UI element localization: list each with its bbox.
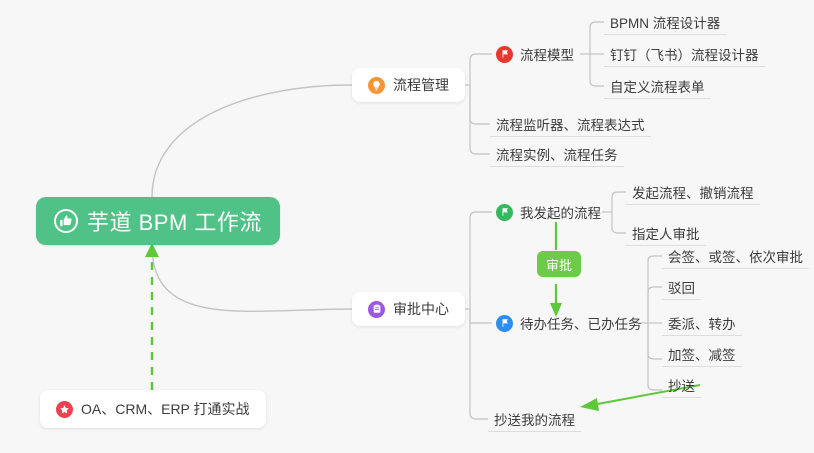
node-label: OA、CRM、ERP 打通实战 — [81, 399, 250, 419]
leaf-label: 自定义流程表单 — [610, 76, 705, 96]
node-label: 审批中心 — [393, 299, 449, 319]
leaf-listener-expression[interactable]: 流程监听器、流程表达式 — [490, 111, 651, 137]
node-label: 流程管理 — [393, 75, 449, 95]
mindmap-canvas: 芋道 BPM 工作流 流程管理 流程模型 BPMN 流程设计器 钉钉（飞书）流程… — [0, 0, 814, 453]
star-icon — [56, 401, 73, 418]
leaf-reject[interactable]: 驳回 — [662, 274, 701, 300]
root-label: 芋道 BPM 工作流 — [87, 205, 262, 237]
leaf-label: 发起流程、撤销流程 — [632, 182, 754, 202]
leaf-custom-process-form[interactable]: 自定义流程表单 — [604, 73, 711, 99]
flag-icon — [496, 315, 513, 332]
leaf-instance-task[interactable]: 流程实例、流程任务 — [490, 141, 624, 167]
node-label: 待办任务、已办任务 — [520, 313, 642, 333]
node-label: 流程模型 — [520, 44, 574, 64]
leaf-cc[interactable]: 抄送 — [662, 372, 701, 398]
leaf-label: 驳回 — [668, 277, 695, 297]
tag-label: 审批 — [546, 255, 572, 274]
node-approval-center[interactable]: 审批中心 — [352, 292, 465, 326]
clipboard-icon — [368, 301, 385, 318]
leaf-cc-to-me-process[interactable]: 抄送我的流程 — [488, 406, 581, 432]
leaf-delegate-transfer[interactable]: 委派、转办 — [662, 310, 742, 336]
lightbulb-icon — [368, 77, 385, 94]
leaf-label: 加签、减签 — [668, 344, 736, 364]
leaf-label: 抄送 — [668, 375, 695, 395]
node-process-model[interactable]: 流程模型 — [492, 41, 578, 67]
leaf-add-remove-sign[interactable]: 加签、减签 — [662, 341, 742, 367]
leaf-bpmn-designer[interactable]: BPMN 流程设计器 — [604, 9, 726, 35]
leaf-start-cancel-process[interactable]: 发起流程、撤销流程 — [626, 179, 760, 205]
leaf-countersign[interactable]: 会签、或签、依次审批 — [662, 243, 809, 269]
node-process-management[interactable]: 流程管理 — [352, 68, 465, 102]
leaf-label: 委派、转办 — [668, 313, 736, 333]
flag-icon — [496, 204, 513, 221]
node-integration-practice[interactable]: OA、CRM、ERP 打通实战 — [40, 390, 266, 428]
leaf-label: BPMN 流程设计器 — [610, 12, 720, 32]
leaf-label: 抄送我的流程 — [494, 409, 575, 429]
tag-approval[interactable]: 审批 — [537, 251, 581, 277]
root-node[interactable]: 芋道 BPM 工作流 — [36, 197, 280, 245]
thumbs-up-icon — [54, 209, 78, 233]
leaf-label: 流程实例、流程任务 — [496, 144, 618, 164]
node-todo-done-tasks[interactable]: 待办任务、已办任务 — [492, 310, 646, 336]
leaf-label: 流程监听器、流程表达式 — [496, 114, 645, 134]
flag-icon — [496, 46, 513, 63]
node-label: 我发起的流程 — [520, 202, 601, 222]
leaf-label: 钉钉（飞书）流程设计器 — [610, 44, 759, 64]
leaf-label: 指定人审批 — [632, 223, 700, 243]
leaf-label: 会签、或签、依次审批 — [668, 246, 803, 266]
node-my-started-process[interactable]: 我发起的流程 — [492, 199, 605, 225]
leaf-dingtalk-feishu-designer[interactable]: 钉钉（飞书）流程设计器 — [604, 41, 765, 67]
